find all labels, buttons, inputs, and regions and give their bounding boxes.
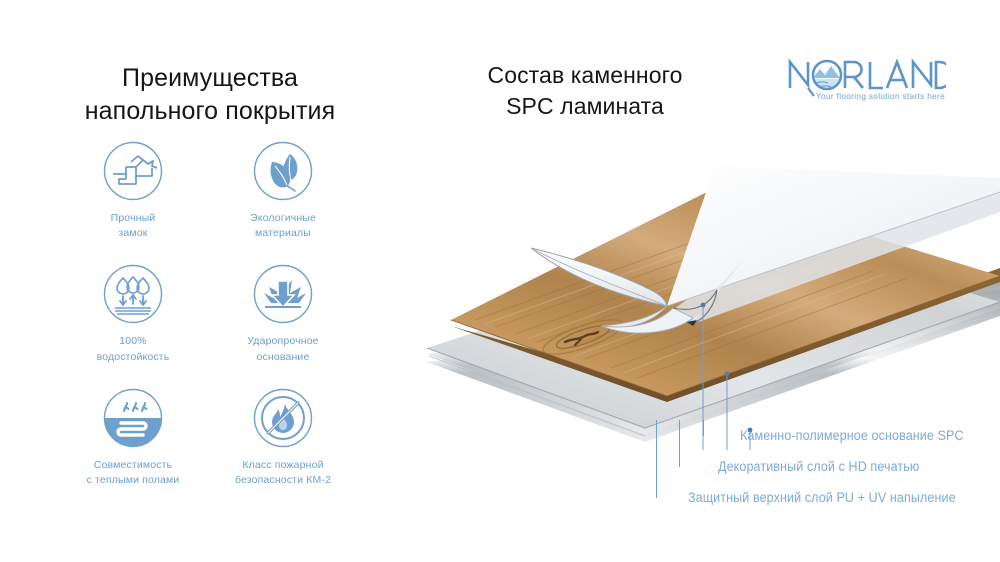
product-exploded-view (415, 130, 1000, 450)
feature-item-click-lock: Прочный замок (58, 140, 208, 241)
infographic-canvas: Преимущества напольного покрытия (0, 0, 1000, 562)
water-droplets-icon (102, 263, 164, 325)
feature-item-waterproof: 100% водостойкость (58, 263, 208, 364)
feature-label: 100% водостойкость (97, 334, 170, 364)
feature-item-impact-resistant: Ударопрочное основание (208, 263, 358, 364)
underfloor-heating-icon (102, 387, 164, 449)
feature-label: Экологичные материалы (250, 211, 316, 241)
callout-leader-1 (703, 420, 704, 436)
norland-logo: Your flooring solution starts here (786, 52, 946, 104)
feature-label: Класс пожарной безопасности КМ-2 (235, 458, 331, 488)
callout-leader-2 (679, 420, 680, 467)
logo-tagline: Your flooring solution starts here (816, 92, 945, 101)
features-grid: Прочный замок Экологичные материалы (58, 140, 358, 488)
callout-decor: Декоративный слой с HD печатью (718, 459, 919, 474)
callout-protective: Защитный верхний слой PU + UV напыление (688, 490, 956, 505)
eco-leaves-icon (252, 140, 314, 202)
feature-item-underfloor-heating: Совместимость с теплыми полами (58, 387, 208, 488)
callout-list: Каменно-полимерное основание SPC Декорат… (600, 420, 1000, 530)
left-panel-title: Преимущества напольного покрытия (0, 62, 420, 128)
feature-item-fire-class: Класс пожарной безопасности КМ-2 (208, 387, 358, 488)
callout-leader-3 (656, 420, 657, 498)
impact-arrow-icon (252, 263, 314, 325)
feature-label: Прочный замок (111, 211, 156, 241)
feature-label: Совместимость с теплыми полами (87, 458, 180, 488)
click-lock-icon (102, 140, 164, 202)
no-fire-icon (252, 387, 314, 449)
feature-label: Ударопрочное основание (247, 334, 318, 364)
feature-item-eco: Экологичные материалы (208, 140, 358, 241)
center-title: Состав каменного SPC ламината (420, 60, 750, 122)
callout-spc-base: Каменно-полимерное основание SPC (740, 428, 964, 443)
